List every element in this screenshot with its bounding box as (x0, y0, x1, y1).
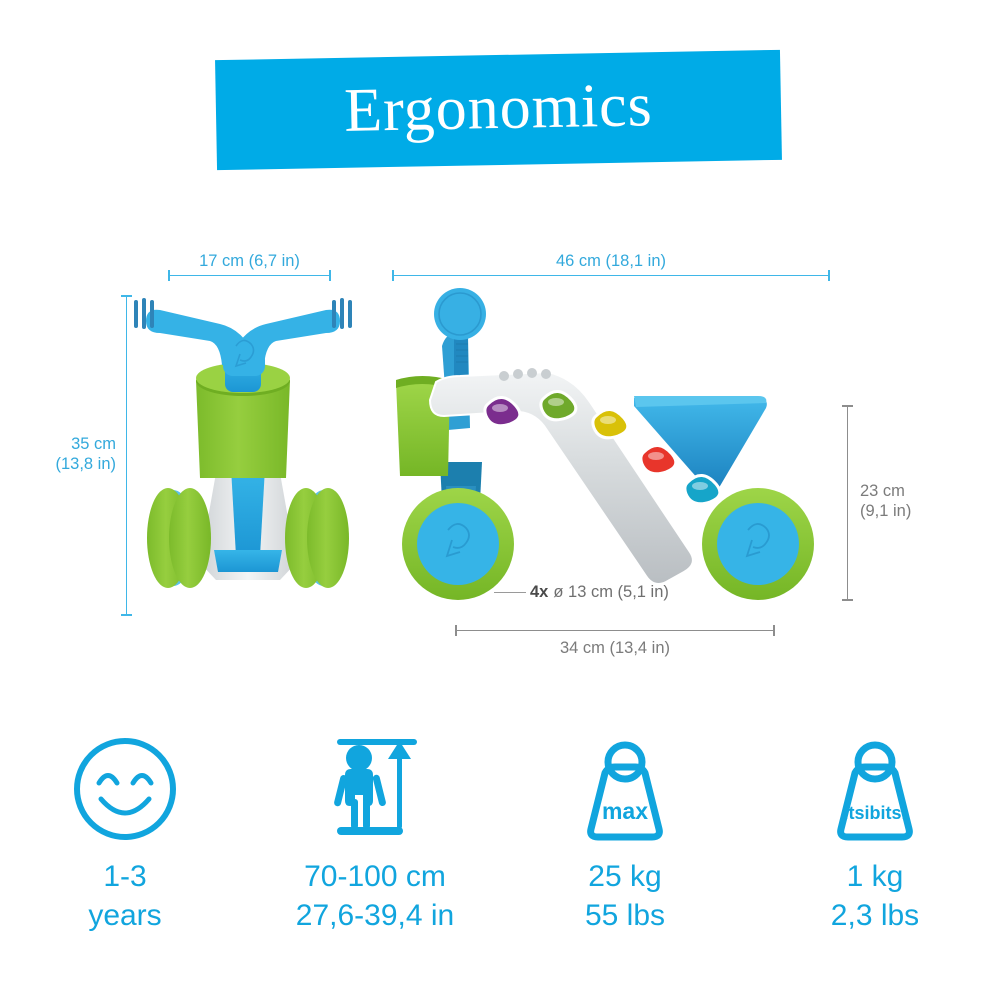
feature-age-line1: 1-3 (88, 857, 161, 896)
max-weight-icon: max (572, 725, 678, 843)
max-weight-icon-text: max (602, 798, 648, 824)
dimension-label-side-length: 46 cm (18,1 in) (392, 251, 830, 271)
feature-height-caption: 70-100 cm 27,6-39,4 in (296, 857, 454, 935)
feature-age-caption: 1-3 years (88, 857, 161, 935)
feature-height-line2: 27,6-39,4 in (296, 896, 454, 935)
feature-height-line1: 70-100 cm (296, 857, 454, 896)
dimension-label-seat-height-in: (9,1 in) (860, 501, 911, 521)
page-title: Ergonomics (215, 50, 782, 170)
product-weight-icon-text: itsibitsi (843, 803, 906, 823)
feature-max-weight-caption: 25 kg 55 lbs (585, 857, 665, 935)
ride-on-toy-side-view (396, 286, 846, 620)
dimension-line-total-height (126, 295, 127, 616)
dimension-label-front-width: 17 cm (6,7 in) (168, 251, 331, 271)
dimension-line-seat-height (847, 405, 848, 601)
feature-product-weight-line1: 1 kg (831, 857, 919, 896)
dimension-label-seat-height-cm: 23 cm (860, 481, 905, 501)
leader-line-wheel-diameter (494, 592, 526, 593)
feature-age-line2: years (88, 896, 161, 935)
feature-product-weight: itsibitsi 1 kg 2,3 lbs (750, 725, 1000, 955)
dimension-label-total-height-in: (13,8 in) (10, 454, 116, 474)
dimension-line-side-length (392, 275, 830, 276)
dimension-line-wheelbase (455, 630, 775, 631)
smiley-face-icon (71, 725, 179, 843)
feature-product-weight-caption: 1 kg 2,3 lbs (831, 857, 919, 935)
dimension-label-wheel-diameter: 4xø 13 cm (5,1 in) (530, 583, 669, 602)
feature-row: 1-3 years 70-100 (0, 725, 1000, 955)
dimension-label-wheelbase: 34 cm (13,4 in) (455, 638, 775, 658)
wheel-count-label: 4x (530, 583, 548, 601)
wheel-diameter-value: ø 13 cm (5,1 in) (553, 583, 669, 601)
feature-max-weight-line1: 25 kg (585, 857, 665, 896)
dimension-line-front-width (168, 275, 331, 276)
feature-max-weight: max 25 kg 55 lbs (500, 725, 750, 955)
ride-on-toy-front-view (128, 288, 368, 628)
feature-height: 70-100 cm 27,6-39,4 in (250, 725, 500, 955)
child-height-icon (319, 725, 431, 843)
feature-max-weight-line2: 55 lbs (585, 896, 665, 935)
feature-product-weight-line2: 2,3 lbs (831, 896, 919, 935)
feature-age: 1-3 years (0, 725, 250, 955)
product-weight-icon: itsibitsi (822, 725, 928, 843)
dimension-label-total-height-cm: 35 cm (10, 434, 116, 454)
